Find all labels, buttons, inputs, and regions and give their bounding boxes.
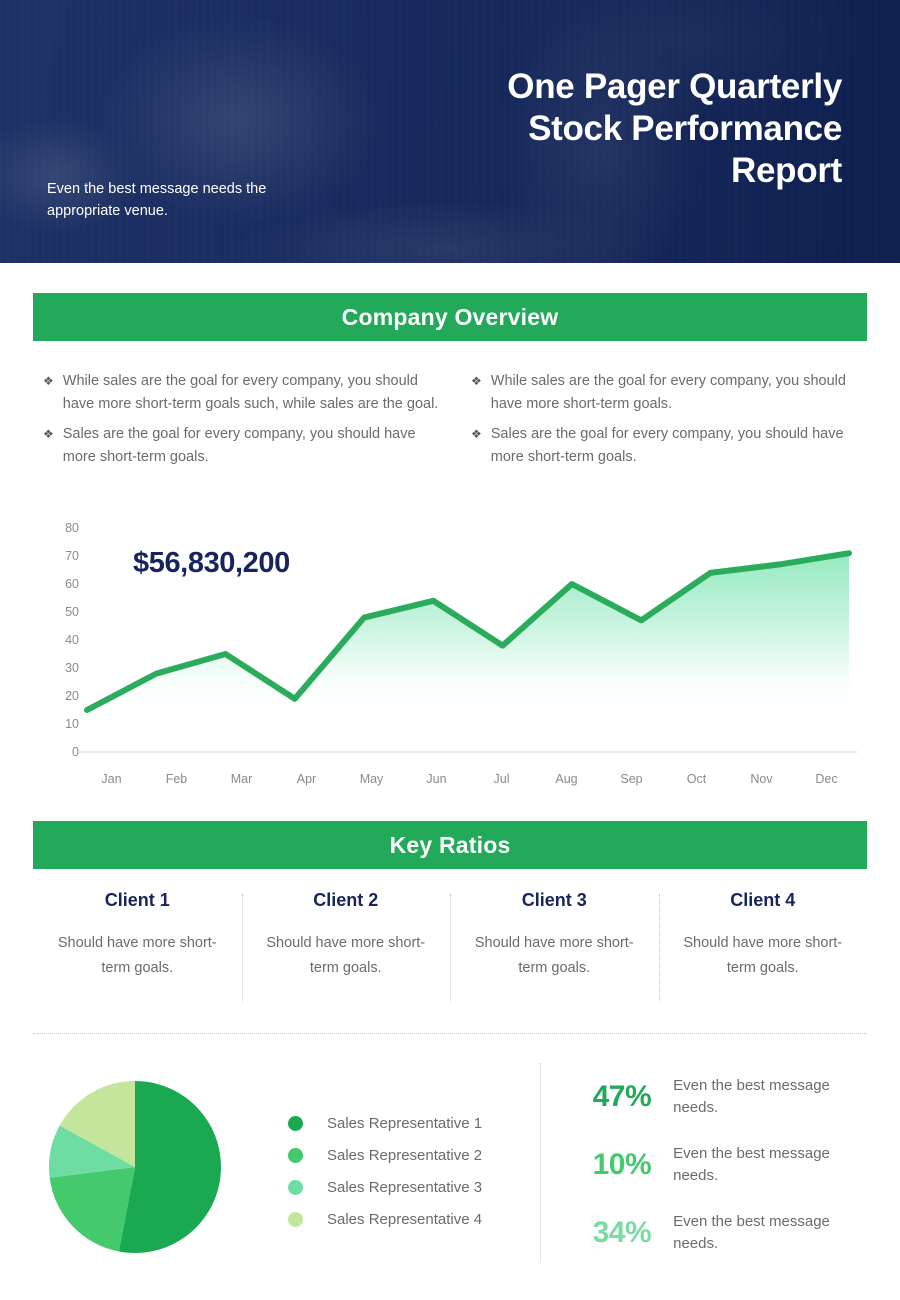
company-overview-content: ❖ While sales are the goal for every com… xyxy=(33,370,867,476)
key-ratio-description: Should have more short-term goals. xyxy=(45,931,230,981)
key-ratio-title: Client 3 xyxy=(462,890,647,911)
key-ratio-title: Client 4 xyxy=(671,890,856,911)
percentage-stats-list: 47%Even the best message needs.10%Even t… xyxy=(573,1063,867,1267)
legend-color-dot-icon xyxy=(288,1212,303,1227)
key-ratio-description: Should have more short-term goals. xyxy=(462,931,647,981)
overview-column-left: ❖ While sales are the goal for every com… xyxy=(33,370,439,476)
key-ratio-column: Client 4Should have more short-term goal… xyxy=(659,890,868,981)
y-axis-tick-label: 80 xyxy=(65,521,79,535)
chart-area-fill xyxy=(87,553,849,716)
diamond-bullet-icon: ❖ xyxy=(43,370,54,415)
list-item: ❖ Sales are the goal for every company, … xyxy=(43,423,439,468)
x-axis-tick-label: Mar xyxy=(209,772,274,786)
x-axis-tick-label: Sep xyxy=(599,772,664,786)
x-axis-tick-label: Aug xyxy=(534,772,599,786)
key-ratios-row: Client 1Should have more short-term goal… xyxy=(33,890,867,981)
list-item-text: While sales are the goal for every compa… xyxy=(63,370,439,415)
key-ratio-column: Client 1Should have more short-term goal… xyxy=(33,890,242,981)
stock-performance-chart: $56,830,200 01020304050607080 JanFebMarA… xyxy=(33,520,867,805)
x-axis-tick-label: Jan xyxy=(79,772,144,786)
y-axis-tick-label: 40 xyxy=(65,633,79,647)
legend-item-label: Sales Representative 4 xyxy=(327,1211,482,1228)
legend-item-label: Sales Representative 2 xyxy=(327,1147,482,1164)
x-axis-tick-label: Jul xyxy=(469,772,534,786)
diamond-bullet-icon: ❖ xyxy=(43,423,54,468)
y-axis-tick-label: 0 xyxy=(72,745,79,759)
section-banner-key-ratios: Key Ratios xyxy=(33,821,867,869)
vertical-dotted-divider xyxy=(540,1063,541,1261)
key-ratio-title: Client 2 xyxy=(254,890,439,911)
list-item: ❖ While sales are the goal for every com… xyxy=(43,370,439,415)
x-axis-tick-label: Apr xyxy=(274,772,339,786)
section-banner-label: Key Ratios xyxy=(390,832,511,859)
y-axis-tick-label: 70 xyxy=(65,549,79,563)
legend-item-label: Sales Representative 1 xyxy=(327,1115,482,1132)
page-title-line-2: Stock Performance xyxy=(412,108,842,150)
list-item-text: While sales are the goal for every compa… xyxy=(491,370,867,415)
diamond-bullet-icon: ❖ xyxy=(471,370,482,415)
bottom-section: Sales Representative 1Sales Representati… xyxy=(33,1055,867,1270)
x-axis-tick-label: May xyxy=(339,772,404,786)
y-axis-tick-label: 10 xyxy=(65,717,79,731)
x-axis-tick-label: Jun xyxy=(404,772,469,786)
stat-percentage: 47% xyxy=(573,1080,673,1114)
key-ratio-description: Should have more short-term goals. xyxy=(254,931,439,981)
legend-item: Sales Representative 2 xyxy=(288,1139,482,1171)
x-axis-tick-label: Nov xyxy=(729,772,794,786)
page-title-line-3: Report xyxy=(412,150,842,192)
legend-item: Sales Representative 3 xyxy=(288,1171,482,1203)
legend-item-label: Sales Representative 3 xyxy=(327,1179,482,1196)
key-ratio-column: Client 2Should have more short-term goal… xyxy=(242,890,451,981)
page-header: One Pager Quarterly Stock Performance Re… xyxy=(0,0,900,263)
stat-description: Even the best message needs. xyxy=(673,1075,867,1119)
overview-column-right: ❖ While sales are the goal for every com… xyxy=(461,370,867,476)
legend-item: Sales Representative 4 xyxy=(288,1203,482,1235)
stat-item: 47%Even the best message needs. xyxy=(573,1063,867,1131)
key-ratio-title: Client 1 xyxy=(45,890,230,911)
x-axis-tick-label: Dec xyxy=(794,772,859,786)
y-axis-tick-label: 50 xyxy=(65,605,79,619)
page-title: One Pager Quarterly Stock Performance Re… xyxy=(412,66,842,192)
y-axis-tick-label: 60 xyxy=(65,577,79,591)
stat-percentage: 34% xyxy=(573,1216,673,1250)
list-item: ❖ Sales are the goal for every company, … xyxy=(471,423,867,468)
legend-color-dot-icon xyxy=(288,1148,303,1163)
header-tagline: Even the best message needs the appropri… xyxy=(47,178,337,222)
list-item-text: Sales are the goal for every company, yo… xyxy=(63,423,439,468)
legend-color-dot-icon xyxy=(288,1180,303,1195)
legend-color-dot-icon xyxy=(288,1116,303,1131)
section-banner-label: Company Overview xyxy=(342,304,559,331)
chart-y-axis: 01020304050607080 xyxy=(33,520,79,770)
page-title-line-1: One Pager Quarterly xyxy=(412,66,842,108)
diamond-bullet-icon: ❖ xyxy=(471,423,482,468)
legend-item: Sales Representative 1 xyxy=(288,1107,482,1139)
list-item: ❖ While sales are the goal for every com… xyxy=(471,370,867,415)
horizontal-dotted-divider xyxy=(33,1033,867,1034)
list-item-text: Sales are the goal for every company, yo… xyxy=(491,423,867,468)
key-ratio-description: Should have more short-term goals. xyxy=(671,931,856,981)
x-axis-tick-label: Oct xyxy=(664,772,729,786)
section-banner-company-overview: Company Overview xyxy=(33,293,867,341)
y-axis-tick-label: 30 xyxy=(65,661,79,675)
stat-description: Even the best message needs. xyxy=(673,1211,867,1255)
pie-chart-legend: Sales Representative 1Sales Representati… xyxy=(288,1107,482,1235)
sales-representative-pie-chart xyxy=(45,1077,265,1257)
stat-percentage: 10% xyxy=(573,1148,673,1182)
chart-plot-area xyxy=(79,520,867,770)
stat-item: 34%Even the best message needs. xyxy=(573,1199,867,1267)
stat-description: Even the best message needs. xyxy=(673,1143,867,1187)
x-axis-tick-label: Feb xyxy=(144,772,209,786)
y-axis-tick-label: 20 xyxy=(65,689,79,703)
chart-x-axis: JanFebMarAprMayJunJulAugSepOctNovDec xyxy=(79,772,859,786)
stat-item: 10%Even the best message needs. xyxy=(573,1131,867,1199)
key-ratio-column: Client 3Should have more short-term goal… xyxy=(450,890,659,981)
